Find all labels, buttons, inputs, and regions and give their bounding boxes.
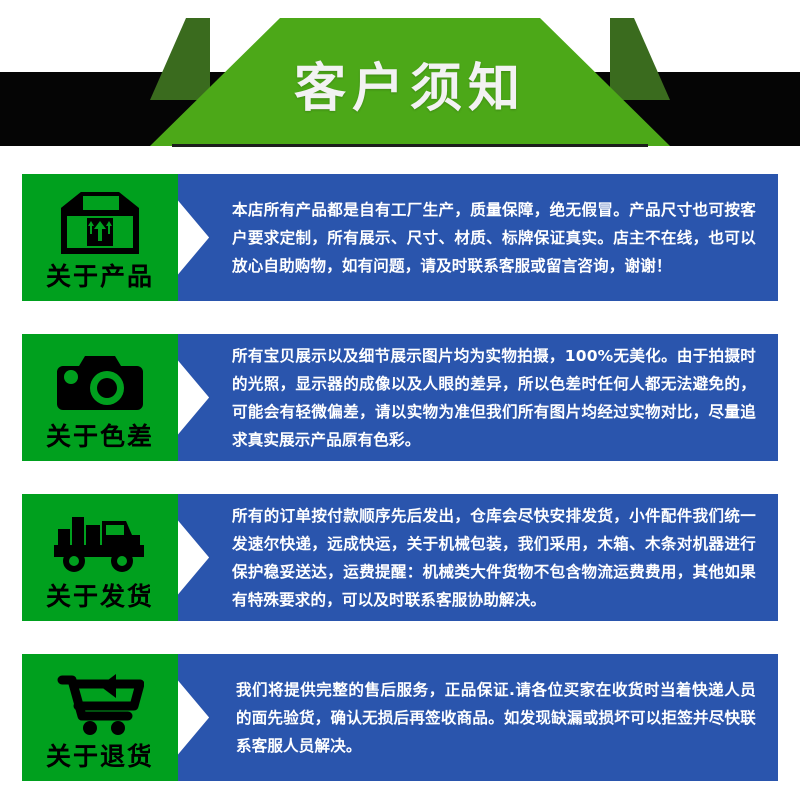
notice-text: 我们将提供完整的售后服务，正品保证.请各位买家在收货时当着快递人员的面先验货，确… [176, 676, 778, 760]
banner-underline [172, 144, 648, 147]
banner-fold-right [610, 18, 670, 100]
icon-card-label: 关于发货 [46, 584, 154, 609]
text-panel-return: 我们将提供完整的售后服务，正品保证.请各位买家在收货时当着快递人员的面先验货，确… [176, 654, 778, 781]
icon-card-label: 关于产品 [46, 264, 154, 289]
notice-sections: 关于产品 本店所有产品都是自有工厂生产，质量保障，绝无假冒。产品尺寸也可按客户要… [0, 160, 800, 788]
banner-ribbon: 客户须知 [150, 18, 670, 146]
forklift-truck-icon [40, 506, 160, 580]
notice-row-return: 关于退货 我们将提供完整的售后服务，正品保证.请各位买家在收货时当着快递人员的面… [0, 640, 800, 788]
header-banner: 客户须知 [0, 0, 800, 160]
notice-text: 所有宝贝展示以及细节展示图片均为实物拍摄，100%无美化。由于拍摄时的光照，显示… [176, 342, 778, 454]
notice-row-product: 关于产品 本店所有产品都是自有工厂生产，质量保障，绝无假冒。产品尺寸也可按客户要… [0, 160, 800, 308]
text-panel-color: 所有宝贝展示以及细节展示图片均为实物拍摄，100%无美化。由于拍摄时的光照，显示… [176, 334, 778, 461]
icon-card-label: 关于退货 [46, 744, 154, 769]
page-title: 客户须知 [294, 63, 526, 115]
text-panel-product: 本店所有产品都是自有工厂生产，质量保障，绝无假冒。产品尺寸也可按客户要求定制，所… [176, 174, 778, 301]
package-box-icon [40, 186, 160, 260]
customer-notice-page: 客户须知 关于产品 [0, 0, 800, 800]
icon-card-label: 关于色差 [46, 424, 154, 449]
banner-fold-left [150, 18, 210, 100]
notice-text: 本店所有产品都是自有工厂生产，质量保障，绝无假冒。产品尺寸也可按客户要求定制，所… [176, 196, 778, 280]
text-panel-shipping: 所有的订单按付款顺序先后发出，仓库会尽快安排发货，小件配件我们统一发速尔快递，远… [176, 494, 778, 621]
return-cart-icon [40, 666, 160, 740]
camera-icon [40, 346, 160, 420]
notice-text: 所有的订单按付款顺序先后发出，仓库会尽快安排发货，小件配件我们统一发速尔快递，远… [176, 502, 778, 614]
notice-row-color: 关于色差 所有宝贝展示以及细节展示图片均为实物拍摄，100%无美化。由于拍摄时的… [0, 320, 800, 468]
notice-row-shipping: 关于发货 所有的订单按付款顺序先后发出，仓库会尽快安排发货，小件配件我们统一发速… [0, 480, 800, 628]
